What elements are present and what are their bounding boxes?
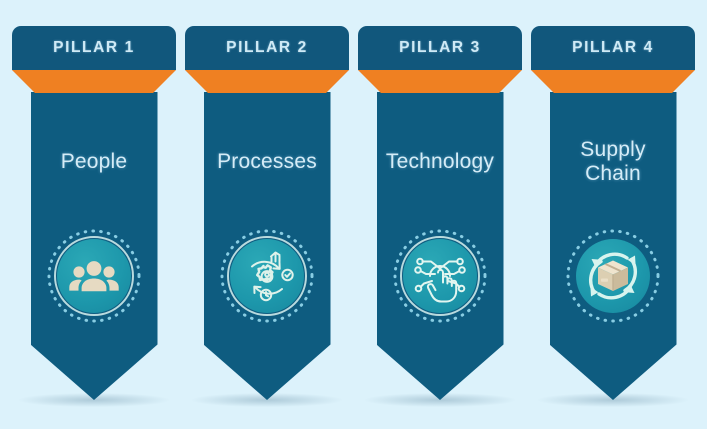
pillars-board: PILLAR 1 People [0, 0, 707, 429]
pillar-header-3: PILLAR 3 [358, 26, 522, 70]
pillar-title-2: Processes [207, 150, 327, 174]
pillar-header-1: PILLAR 1 [12, 26, 176, 70]
hand-touch-network-icon [392, 228, 488, 324]
pillar-card-3[interactable]: PILLAR 3 Technology [358, 26, 522, 401]
pillar-badge-label-4: PILLAR 4 [572, 39, 654, 57]
pillar-orange-neck-1 [12, 70, 176, 93]
pillar-medallion-1 [46, 228, 142, 324]
pillar-card-2[interactable]: PILLAR 2 Processes [185, 26, 349, 401]
pillar-title-1: People [34, 150, 154, 174]
pillar-medallion-2 [219, 228, 315, 324]
pillar-card-1[interactable]: PILLAR 1 People [12, 26, 176, 401]
pillar-badge-label-3: PILLAR 3 [399, 39, 481, 57]
pillar-body-2: Processes [204, 92, 331, 400]
pillar-card-4[interactable]: PILLAR 4 Supply Chain [531, 26, 695, 401]
people-group-icon [46, 228, 142, 324]
gear-process-cycle-icon [219, 228, 315, 324]
pillar-orange-neck-4 [531, 70, 695, 93]
pillar-orange-neck-3 [358, 70, 522, 93]
pillar-body-4: Supply Chain [550, 92, 677, 400]
pillar-header-4: PILLAR 4 [531, 26, 695, 70]
pillar-title-4: Supply Chain [553, 138, 673, 186]
pillar-medallion-4 [565, 228, 661, 324]
pillar-header-2: PILLAR 2 [185, 26, 349, 70]
box-recycle-arrows-icon [565, 228, 661, 324]
pillar-body-3: Technology [377, 92, 504, 400]
pillar-medallion-3 [392, 228, 488, 324]
pillar-title-3: Technology [380, 150, 500, 174]
pillar-body-1: People [31, 92, 158, 400]
pillar-badge-label-1: PILLAR 1 [53, 39, 135, 57]
pillar-badge-label-2: PILLAR 2 [226, 39, 308, 57]
pillar-orange-neck-2 [185, 70, 349, 93]
